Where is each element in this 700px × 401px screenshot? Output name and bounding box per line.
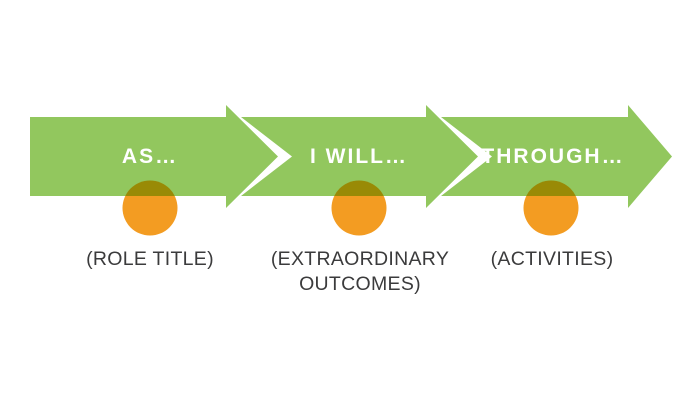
stage-label-as: AS… [60, 141, 240, 173]
stage-label-through: THROUGH… [462, 141, 644, 173]
caption-extraordinary-outcomes: (EXTRAORDINARY OUTCOMES) [249, 247, 471, 297]
arrow-diagram: AS… I WILL… THROUGH… (ROLE TITLE) (EXTRA… [0, 0, 700, 401]
caption-activities: (ACTIVITIES) [466, 247, 638, 272]
stage-label-i-will: I WILL… [268, 141, 450, 173]
caption-role-title: (ROLE TITLE) [55, 247, 245, 272]
arrow-band-graphic [0, 0, 700, 401]
